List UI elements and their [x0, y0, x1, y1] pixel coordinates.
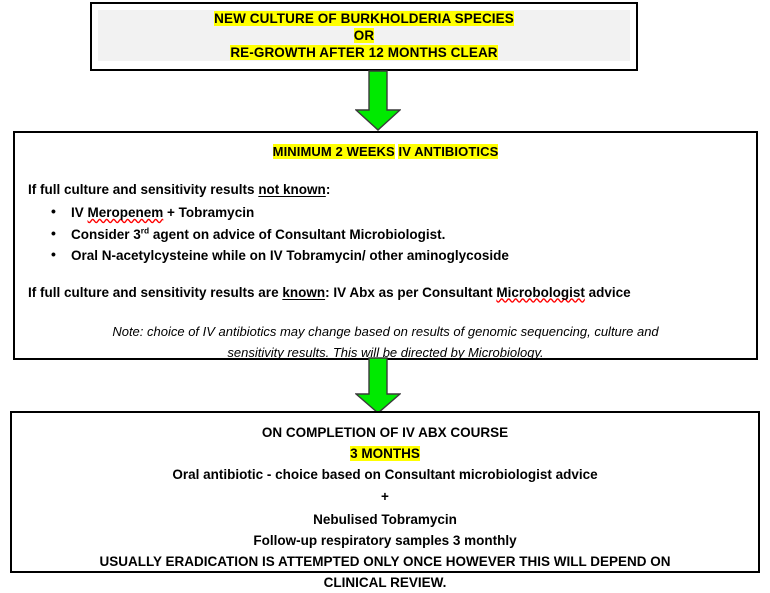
- bullet-1-spellcheck-word: Meropenem: [88, 205, 164, 220]
- list-item: Consider 3rd agent on advice of Consulta…: [71, 224, 756, 246]
- bullet-2-ordinal-superscript: rd: [141, 225, 149, 235]
- top-box-line-1: NEW CULTURE OF BURKHOLDERIA SPECIES: [214, 11, 514, 26]
- bullet-1-prefix: IV: [71, 205, 88, 220]
- bottom-line-6: USUALLY ERADICATION IS ATTEMPTED ONLY ON…: [12, 551, 758, 572]
- down-arrow-1: [355, 70, 401, 137]
- bottom-process-box: ON COMPLETION OF IV ABX COURSE 3 MONTHS …: [10, 411, 760, 573]
- bottom-line-2-wrapper: 3 MONTHS: [12, 443, 758, 464]
- middle-box-heading: MINIMUM 2 WEEKS IV ANTIBIOTICS: [15, 133, 756, 159]
- top-box-content: NEW CULTURE OF BURKHOLDERIA SPECIES OR R…: [92, 4, 636, 61]
- note-line-1: Note: choice of IV antibiotics may chang…: [112, 324, 658, 339]
- bottom-duration-highlight: 3 MONTHS: [350, 446, 420, 461]
- not-known-underlined: not known: [258, 182, 326, 197]
- bottom-line-3: Oral antibiotic - choice based on Consul…: [12, 464, 758, 485]
- bottom-line-5: Follow-up respiratory samples 3 monthly: [12, 530, 758, 551]
- bullet-1-suffix: + Tobramycin: [163, 205, 254, 220]
- down-arrow-icon: [355, 357, 401, 415]
- top-box-line-3: RE-GROWTH AFTER 12 MONTHS CLEAR: [230, 45, 497, 60]
- known-prefix: If full culture and sensitivity results …: [28, 285, 282, 300]
- list-item: Oral N-acetylcysteine while on IV Tobram…: [71, 245, 756, 267]
- known-middle: : IV Abx as per Consultant: [325, 285, 496, 300]
- microbiology-note: Note: choice of IV antibiotics may chang…: [15, 302, 756, 363]
- bullet-2-prefix: Consider 3: [71, 227, 141, 242]
- heading-segment-1: MINIMUM 2 WEEKS: [273, 144, 395, 159]
- bottom-plus-symbol: +: [12, 485, 758, 509]
- not-known-intro: If full culture and sensitivity results …: [15, 159, 756, 199]
- bullet-3-text: Oral N-acetylcysteine while on IV Tobram…: [71, 248, 509, 263]
- known-underlined: known: [282, 285, 325, 300]
- not-known-suffix: :: [326, 182, 331, 197]
- bottom-box-content: ON COMPLETION OF IV ABX COURSE 3 MONTHS …: [12, 413, 758, 593]
- known-spellcheck-word: Microbologist: [496, 285, 585, 300]
- known-suffix: advice: [585, 285, 631, 300]
- bottom-line-4: Nebulised Tobramycin: [12, 509, 758, 530]
- down-arrow-icon: [355, 70, 401, 132]
- heading-segment-2: IV ANTIBIOTICS: [398, 144, 498, 159]
- not-known-prefix: If full culture and sensitivity results: [28, 182, 258, 197]
- top-box-line-2: OR: [354, 28, 374, 43]
- bottom-line-1: ON COMPLETION OF IV ABX COURSE: [12, 422, 758, 443]
- bullet-2-suffix: agent on advice of Consultant Microbiolo…: [149, 227, 445, 242]
- known-results-line: If full culture and sensitivity results …: [15, 267, 756, 302]
- top-process-box: NEW CULTURE OF BURKHOLDERIA SPECIES OR R…: [90, 2, 638, 71]
- middle-process-box: MINIMUM 2 WEEKS IV ANTIBIOTICS If full c…: [13, 131, 758, 360]
- list-item: IV Meropenem + Tobramycin: [71, 202, 756, 224]
- treatment-bullet-list: IV Meropenem + Tobramycin Consider 3rd a…: [15, 202, 756, 267]
